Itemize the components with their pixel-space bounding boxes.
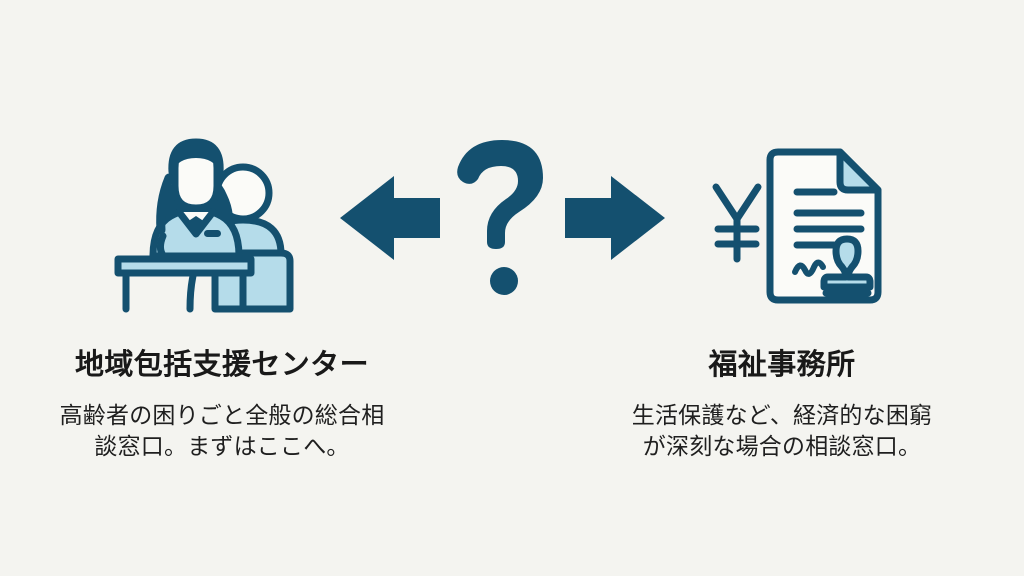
right-body: 生活保護など、経済的な困窮 が深刻な場合の相談窓口。 <box>572 400 992 461</box>
left-body-line-1: 高齢者の困りごと全般の総合相 <box>12 400 432 431</box>
right-body-line-1: 生活保護など、経済的な困窮 <box>572 400 992 431</box>
left-body: 高齢者の困りごと全般の総合相 談窓口。まずはここへ。 <box>12 400 432 461</box>
welfare-document-icon <box>700 130 900 308</box>
question-mark-icon <box>457 140 543 295</box>
right-heading: 福祉事務所 <box>572 348 992 382</box>
slide-canvas: 地域包括支援センター 高齢者の困りごと全般の総合相 談窓口。まずはここへ。 福祉… <box>0 0 1024 576</box>
question-between-arrows-icon <box>330 136 675 301</box>
left-heading: 地域包括支援センター <box>12 348 432 382</box>
left-body-line-2: 談窓口。まずはここへ。 <box>12 431 432 462</box>
yen-symbol-icon <box>716 187 758 259</box>
column-right: 福祉事務所 生活保護など、経済的な困窮 が深刻な場合の相談窓口。 <box>572 348 992 461</box>
arrow-left-icon <box>340 176 440 260</box>
icon-row <box>0 118 1024 318</box>
right-body-line-2: が深刻な場合の相談窓口。 <box>572 431 992 462</box>
arrow-right-icon <box>565 176 665 260</box>
column-left: 地域包括支援センター 高齢者の困りごと全般の総合相 談窓口。まずはここへ。 <box>12 348 432 461</box>
consultation-desk-icon <box>112 126 334 312</box>
